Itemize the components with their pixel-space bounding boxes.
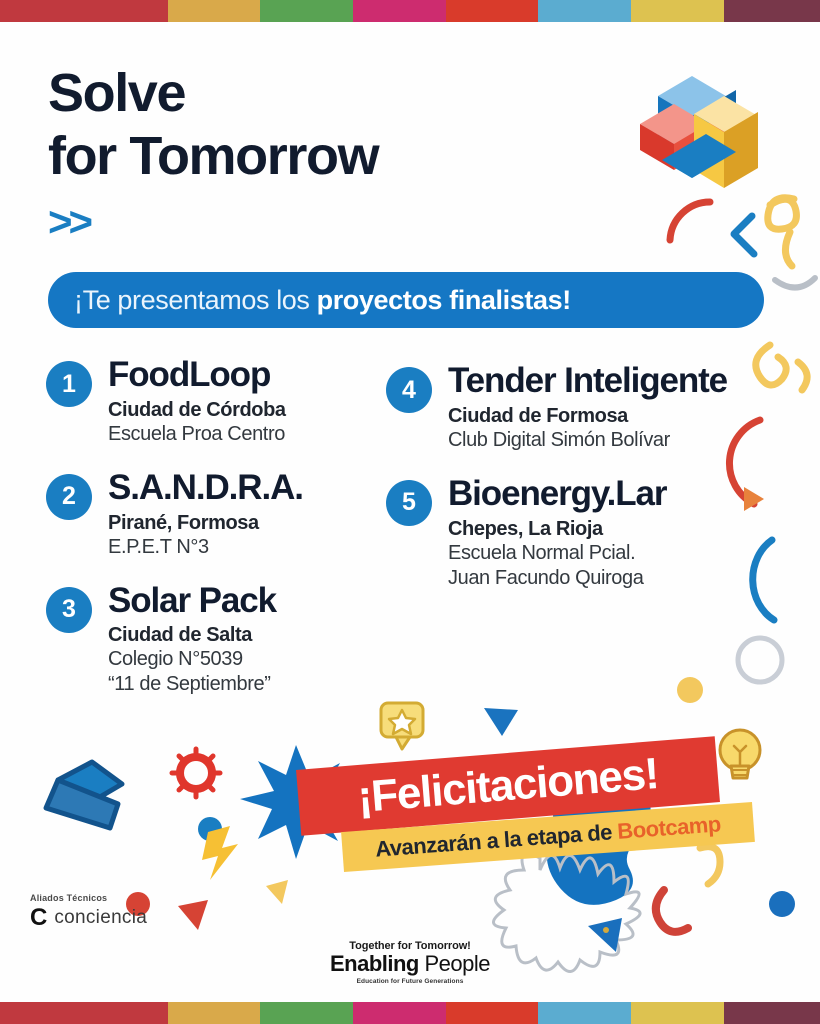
poster-title: Solve for Tomorrow >>	[48, 62, 378, 243]
allies-label: Aliados Técnicos	[30, 893, 147, 903]
color-bar-segment-green	[260, 1002, 353, 1024]
color-bar-segment-green	[260, 0, 353, 22]
project-number-badge: 3	[46, 587, 92, 633]
project-school-line2: “11 de Septiembre”	[108, 672, 276, 697]
project-school: Escuela Proa Centro	[108, 422, 286, 447]
project-item: 3 Solar Pack Ciudad de Salta Colegio N°5…	[46, 582, 386, 698]
project-name: Tender Inteligente	[448, 362, 748, 400]
color-bar-segment-plum	[724, 0, 820, 22]
project-number-badge: 4	[386, 367, 432, 413]
color-bar-segment-ochre	[168, 1002, 261, 1024]
conciencia-wordmark: conciencia	[54, 907, 147, 929]
title-line-2: for Tomorrow	[48, 125, 378, 188]
enabling-people-block: Together for Tomorrow! Enabling People E…	[0, 940, 820, 985]
project-number-badge: 5	[386, 480, 432, 526]
project-city: Chepes, La Rioja	[448, 517, 666, 541]
project-city: Ciudad de Salta	[108, 623, 276, 647]
poster-canvas: Solve for Tomorrow >> ¡Te presentamos lo…	[0, 0, 820, 1024]
project-school: Club Digital Simón Bolívar	[448, 428, 748, 453]
solve-for-tomorrow-logo-icon	[622, 52, 772, 202]
project-item: 2 S.A.N.D.R.A. Pirané, Formosa E.P.E.T N…	[46, 469, 386, 560]
conciencia-logo: C conciencia	[30, 906, 147, 930]
color-bar-segment-red	[446, 1002, 539, 1024]
project-city: Ciudad de Formosa	[448, 404, 748, 428]
enabling-word-rest: People	[419, 951, 490, 976]
color-bar-segment-crimson	[0, 1002, 168, 1024]
projects-column-left: 1 FoodLoop Ciudad de Córdoba Escuela Pro…	[46, 356, 386, 719]
project-name: S.A.N.D.R.A.	[108, 469, 303, 507]
project-number-badge: 2	[46, 474, 92, 520]
enabling-people-wordmark: Enabling People	[0, 952, 820, 977]
color-bar-segment-plum	[724, 1002, 820, 1024]
color-bar-segment-magenta	[353, 0, 446, 22]
color-bar-segment-ochre	[168, 0, 261, 22]
color-bar-segment-red	[446, 0, 539, 22]
project-school-line2: Juan Facundo Quiroga	[448, 566, 666, 591]
project-school: Colegio N°5039	[108, 647, 276, 672]
top-color-bar	[0, 0, 820, 22]
project-school: E.P.E.T N°3	[108, 535, 303, 560]
laptop-decoration	[46, 762, 122, 828]
project-name: Solar Pack	[108, 582, 276, 620]
bottom-color-bar	[0, 1002, 820, 1024]
finalists-banner-text: ¡Te presentamos los proyectos finalistas…	[74, 285, 571, 316]
finalists-banner-bold: proyectos finalistas!	[317, 285, 571, 315]
color-bar-segment-skyblue	[538, 1002, 631, 1024]
lightbulb-icon	[720, 730, 760, 778]
project-name: Bioenergy.Lar	[448, 475, 666, 513]
project-name: FoodLoop	[108, 356, 286, 394]
enabling-word-bold: Enabling	[330, 951, 419, 976]
title-line-1: Solve	[48, 62, 378, 125]
conciencia-mark-icon: C	[30, 906, 47, 930]
project-item: 4 Tender Inteligente Ciudad de Formosa C…	[386, 362, 776, 453]
enabling-tagline-sub: Education for Future Generations	[0, 978, 820, 985]
congratulations-subline-highlight: Bootcamp	[616, 811, 721, 844]
project-item: 1 FoodLoop Ciudad de Córdoba Escuela Pro…	[46, 356, 386, 447]
color-bar-segment-skyblue	[538, 0, 631, 22]
project-number-badge: 1	[46, 361, 92, 407]
chevron-double-right-icon: >>	[48, 201, 378, 243]
finalists-banner: ¡Te presentamos los proyectos finalistas…	[48, 272, 764, 328]
project-city: Ciudad de Córdoba	[108, 398, 286, 422]
star-badge-icon	[381, 703, 423, 749]
color-bar-segment-crimson	[0, 0, 168, 22]
projects-column-right: 4 Tender Inteligente Ciudad de Formosa C…	[386, 362, 776, 613]
project-school: Escuela Normal Pcial.	[448, 541, 666, 566]
color-bar-segment-magenta	[353, 1002, 446, 1024]
project-item: 5 Bioenergy.Lar Chepes, La Rioja Escuela…	[386, 475, 776, 591]
color-bar-segment-gold	[631, 1002, 724, 1024]
technical-allies-block: Aliados Técnicos C conciencia	[30, 893, 147, 930]
finalists-banner-lead: ¡Te presentamos los	[74, 285, 317, 315]
project-city: Pirané, Formosa	[108, 511, 303, 535]
color-bar-segment-gold	[631, 0, 724, 22]
